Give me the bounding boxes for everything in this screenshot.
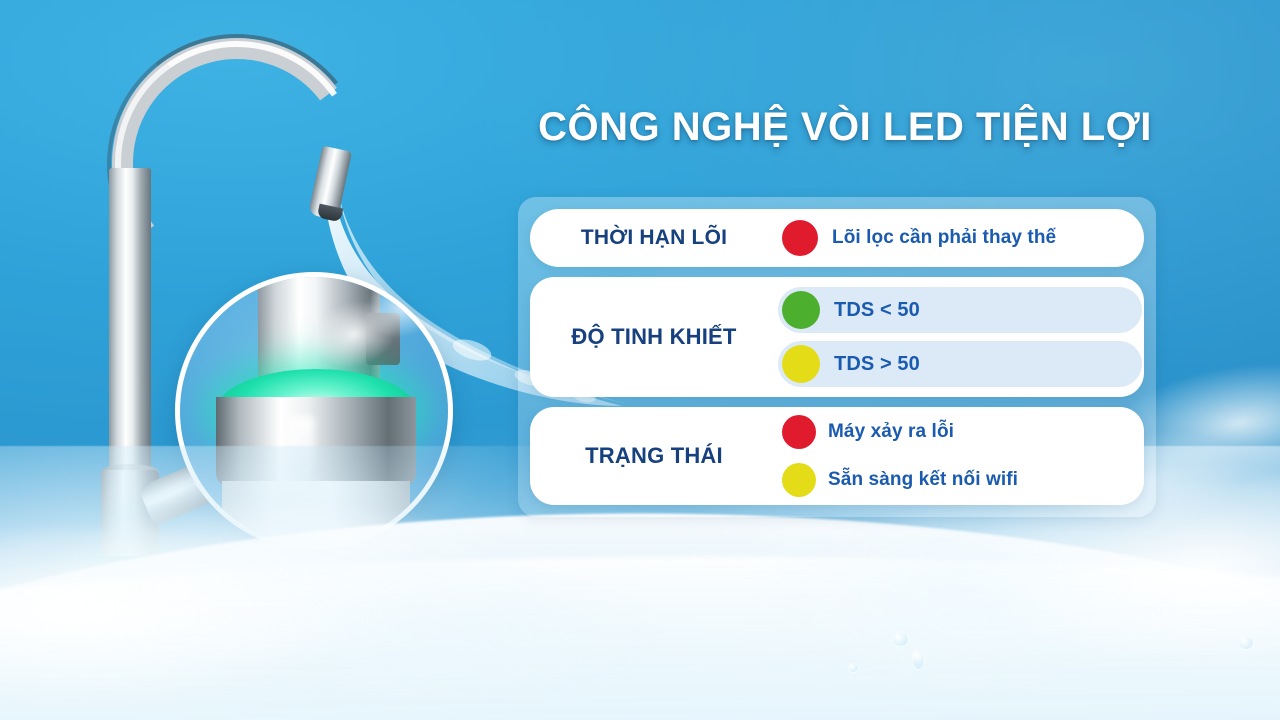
feature-card-status: TRẠNG THÁI Máy xảy ra lỗi Sẵn sàng kết n… [530,407,1144,505]
water-bubble [1238,636,1254,650]
card-rows: Máy xảy ra lỗi Sẵn sàng kết nối wifi [778,412,1144,500]
status-dot-green [782,291,820,329]
status-row-text: TDS < 50 [834,299,920,322]
status-row: Lõi lọc cần phải thay thế [778,218,1142,258]
card-rows: Lõi lọc cần phải thay thế [778,218,1144,258]
water-bubble [892,632,909,647]
water-bubble [912,648,925,670]
status-dot-red [782,415,816,449]
status-row: TDS < 50 [778,287,1142,333]
card-label: ĐỘ TINH KHIẾT [530,325,778,349]
page-title: CÔNG NGHỆ VÒI LED TIỆN LỢI [515,105,1175,150]
water-foam-left [0,490,691,706]
status-row-text: Lõi lọc cần phải thay thế [832,227,1056,249]
status-row-text: Máy xảy ra lỗi [828,421,954,443]
card-label: TRẠNG THÁI [530,444,778,468]
water-bubble [848,663,859,673]
status-row-text: TDS > 50 [834,353,920,376]
status-dot-red [782,220,818,256]
status-dot-yellow [782,345,820,383]
status-row-text: Sẵn sàng kết nối wifi [828,469,1018,491]
status-dot-yellow [782,463,816,497]
card-label: THỜI HẠN LÕI [530,226,778,249]
status-row: TDS > 50 [778,341,1142,387]
card-rows: TDS < 50 TDS > 50 [778,287,1144,387]
feature-card-filter-life: THỜI HẠN LÕI Lõi lọc cần phải thay thế [530,209,1144,267]
status-row: Sẵn sàng kết nối wifi [778,460,1142,500]
feature-card-purity: ĐỘ TINH KHIẾT TDS < 50 TDS > 50 [530,277,1144,397]
status-row: Máy xảy ra lỗi [778,412,1142,452]
promo-banner: CÔNG NGHỆ VÒI LED TIỆN LỢI THỜI HẠN LÕI … [0,0,1280,720]
feature-panel: THỜI HẠN LÕI Lõi lọc cần phải thay thế Đ… [518,197,1156,517]
